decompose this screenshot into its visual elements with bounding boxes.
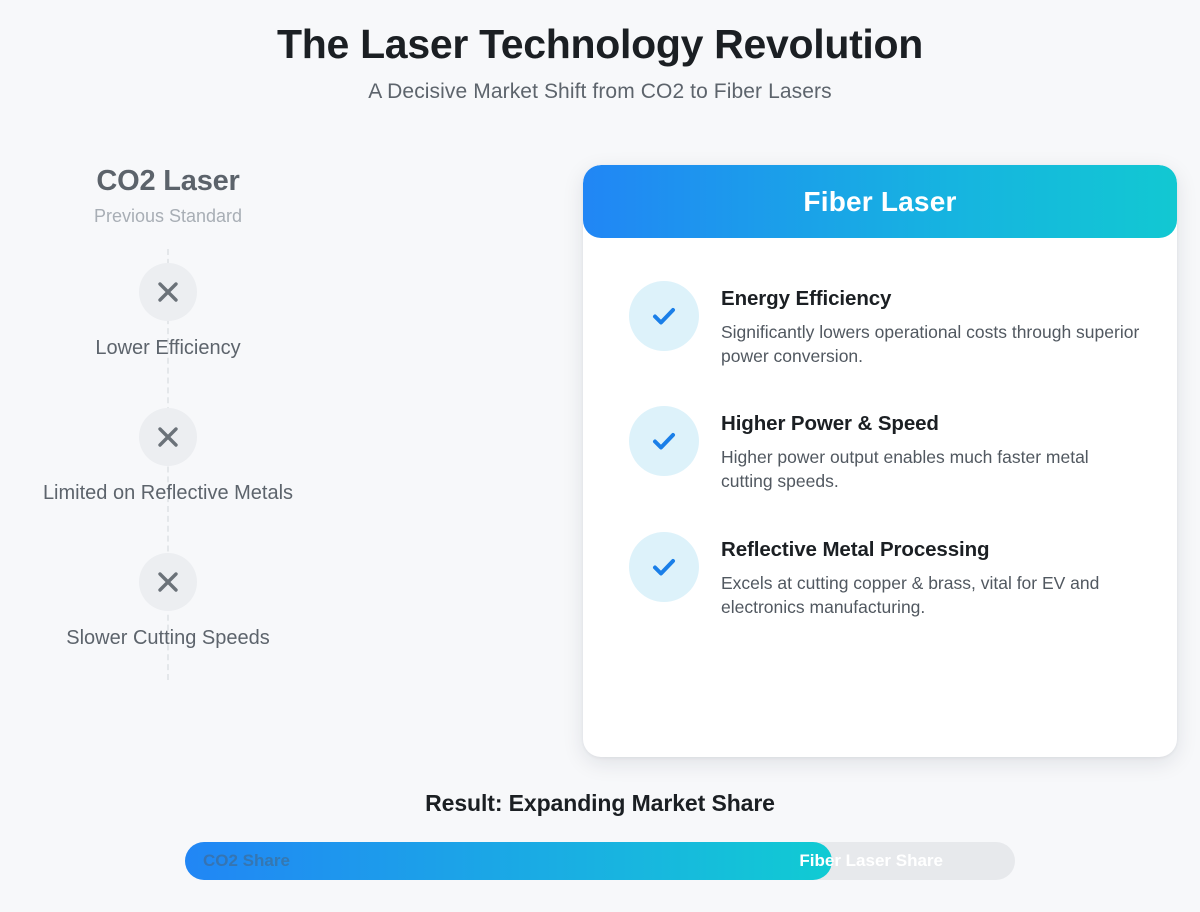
feature-title: Energy Efficiency xyxy=(721,287,1141,311)
page-subtitle: A Decisive Market Shift from CO2 to Fibe… xyxy=(0,80,1200,104)
feature-title: Reflective Metal Processing xyxy=(721,538,1141,562)
list-item: Reflective Metal Processing Excels at cu… xyxy=(629,531,1141,619)
feature-text-block: Higher Power & Speed Higher power output… xyxy=(721,405,1141,493)
list-item: Higher Power & Speed Higher power output… xyxy=(629,405,1141,493)
co2-item-label: Limited on Reflective Metals xyxy=(8,482,328,505)
market-share-bar: CO2 Share Fiber Laser Share xyxy=(185,842,1015,880)
feature-description: Higher power output enables much faster … xyxy=(721,445,1141,493)
feature-title: Higher Power & Speed xyxy=(721,412,1141,436)
header: The Laser Technology Revolution A Decisi… xyxy=(0,22,1200,104)
list-item: Slower Cutting Speeds xyxy=(8,553,328,650)
feature-description: Excels at cutting copper & brass, vital … xyxy=(721,571,1141,619)
fiber-card-header: Fiber Laser xyxy=(583,165,1177,238)
x-mark-icon xyxy=(139,263,197,321)
x-mark-icon xyxy=(139,408,197,466)
fiber-laser-card: Fiber Laser Energy Efficiency Significan… xyxy=(583,165,1177,757)
co2-laser-column: CO2 Laser Previous Standard Lower Effici… xyxy=(8,165,328,650)
fiber-share-label: Fiber Laser Share xyxy=(799,842,943,880)
co2-item-label: Slower Cutting Speeds xyxy=(8,627,328,650)
infographic-page: The Laser Technology Revolution A Decisi… xyxy=(0,0,1200,912)
co2-column-subtitle: Previous Standard xyxy=(8,206,328,227)
fiber-benefit-list: Energy Efficiency Significantly lowers o… xyxy=(583,238,1177,619)
fiber-card-title: Fiber Laser xyxy=(803,186,956,218)
check-mark-icon xyxy=(629,406,699,476)
feature-text-block: Reflective Metal Processing Excels at cu… xyxy=(721,531,1141,619)
check-mark-icon xyxy=(629,281,699,351)
co2-column-title: CO2 Laser xyxy=(8,165,328,198)
x-mark-icon xyxy=(139,553,197,611)
result-title: Result: Expanding Market Share xyxy=(0,790,1200,817)
co2-share-label: CO2 Share xyxy=(203,842,290,880)
feature-text-block: Energy Efficiency Significantly lowers o… xyxy=(721,280,1141,368)
co2-item-label: Lower Efficiency xyxy=(8,337,328,360)
list-item: Energy Efficiency Significantly lowers o… xyxy=(629,280,1141,368)
check-mark-icon xyxy=(629,532,699,602)
list-item: Lower Efficiency xyxy=(8,263,328,360)
market-share-section: Result: Expanding Market Share CO2 Share… xyxy=(0,790,1200,880)
page-title: The Laser Technology Revolution xyxy=(0,22,1200,68)
co2-drawback-list: Lower Efficiency Limited on Reflective M… xyxy=(8,249,328,650)
list-item: Limited on Reflective Metals xyxy=(8,408,328,505)
feature-description: Significantly lowers operational costs t… xyxy=(721,320,1141,368)
